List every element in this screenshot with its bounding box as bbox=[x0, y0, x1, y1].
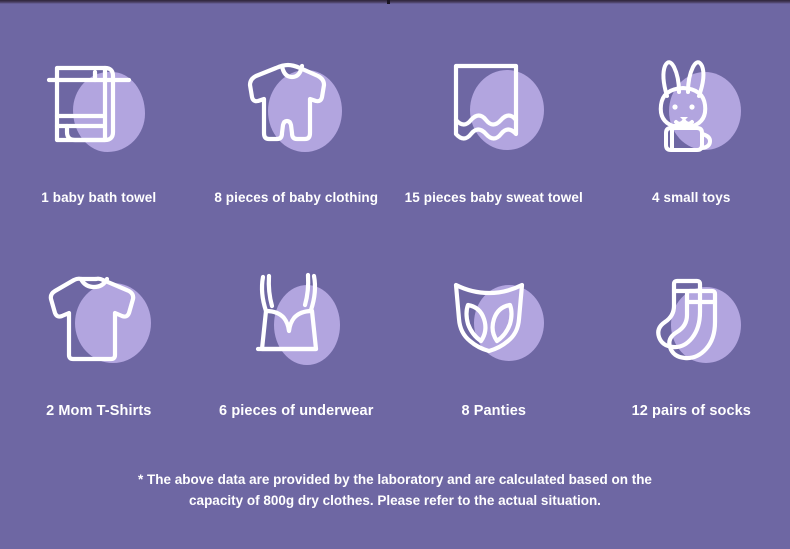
item-label: 2 Mom T-Shirts bbox=[46, 403, 151, 419]
item-label: 15 pieces baby sweat towel bbox=[405, 190, 583, 205]
item-row-1: 1 baby bath towel 8 pieces of baby cloth… bbox=[0, 54, 790, 205]
sweat-towel-icon-wrap bbox=[430, 54, 550, 164]
footnote-line-1: * The above data are provided by the lab… bbox=[0, 469, 790, 490]
item-baby-clothing: 8 pieces of baby clothing bbox=[198, 54, 396, 205]
bunny-toy-icon-wrap bbox=[627, 54, 747, 164]
sweat-towel-icon bbox=[430, 54, 550, 164]
item-label: 6 pieces of underwear bbox=[219, 403, 373, 419]
item-row-2: 2 Mom T-Shirts bbox=[0, 267, 790, 419]
footnote: * The above data are provided by the lab… bbox=[0, 469, 790, 511]
item-mom-tshirts: 2 Mom T-Shirts bbox=[0, 267, 198, 419]
baby-romper-icon-wrap bbox=[232, 54, 352, 164]
t-shirt-icon-wrap bbox=[35, 267, 155, 377]
icon-grid: 1 baby bath towel 8 pieces of baby cloth… bbox=[0, 4, 790, 419]
bra-icon-wrap bbox=[232, 267, 352, 377]
bath-towel-icon-wrap bbox=[35, 54, 155, 164]
baby-romper-icon bbox=[232, 54, 352, 164]
item-label: 8 pieces of baby clothing bbox=[214, 190, 378, 205]
item-label: 8 Panties bbox=[461, 403, 526, 419]
socks-icon-wrap bbox=[627, 267, 747, 377]
item-label: 4 small toys bbox=[652, 190, 731, 205]
bunny-toy-icon bbox=[627, 54, 747, 164]
item-bath-towel: 1 baby bath towel bbox=[0, 54, 198, 205]
t-shirt-icon bbox=[35, 267, 155, 377]
item-label: 12 pairs of socks bbox=[632, 403, 751, 419]
item-panties: 8 Panties bbox=[395, 267, 593, 419]
socks-icon bbox=[627, 267, 747, 377]
panties-icon-wrap bbox=[430, 267, 550, 377]
laundry-capacity-infographic: 1 baby bath towel 8 pieces of baby cloth… bbox=[0, 0, 790, 549]
bra-icon bbox=[232, 267, 352, 377]
panties-icon bbox=[430, 267, 550, 377]
item-small-toys: 4 small toys bbox=[593, 54, 790, 205]
item-label: 1 baby bath towel bbox=[41, 190, 156, 205]
item-sweat-towel: 15 pieces baby sweat towel bbox=[395, 54, 593, 205]
item-underwear: 6 pieces of underwear bbox=[198, 267, 396, 419]
item-socks: 12 pairs of socks bbox=[593, 267, 790, 419]
bath-towel-icon bbox=[35, 54, 155, 164]
footnote-line-2: capacity of 800g dry clothes. Please ref… bbox=[0, 490, 790, 511]
